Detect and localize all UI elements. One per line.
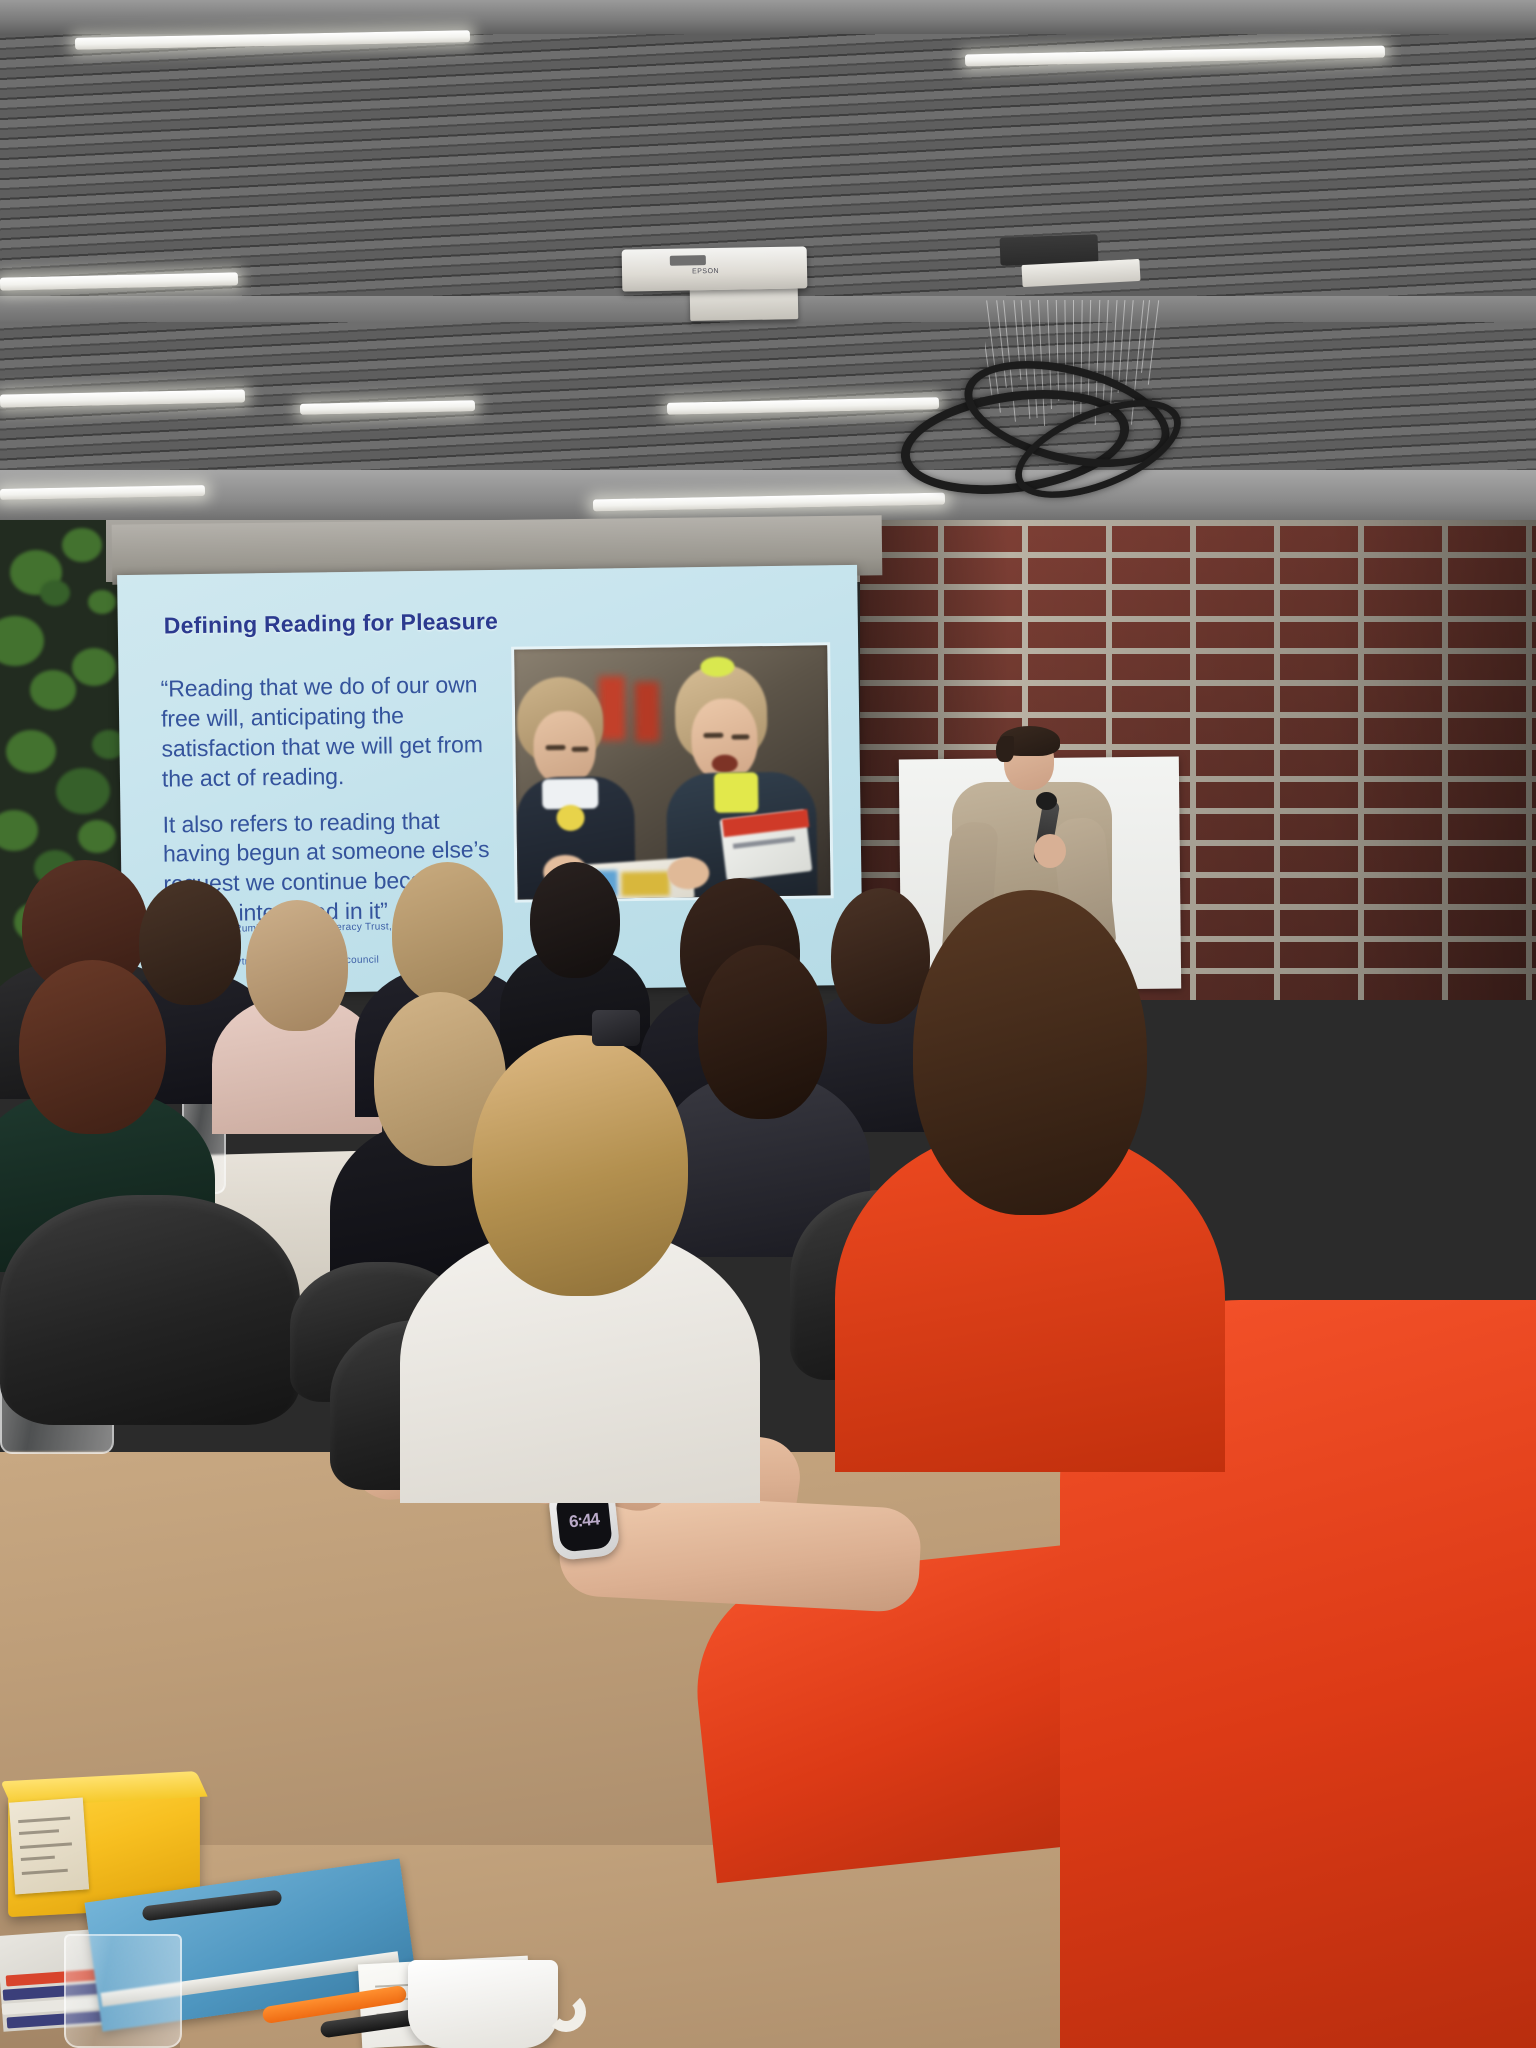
smartwatch-time: 6:44 <box>568 1509 600 1532</box>
slide-quote-paragraph-1: “Reading that we do of our own free will… <box>160 670 492 794</box>
slide-title: Defining Reading for Pleasure <box>164 608 499 640</box>
coffee-mug <box>408 1960 558 2048</box>
paper-sachet <box>9 1798 89 1895</box>
foreground-glass-bottom <box>64 1934 182 2048</box>
projector-lens-icon <box>670 255 706 266</box>
attendee-orange-blazer <box>835 890 1225 1450</box>
chair-1 <box>0 1195 300 1425</box>
presenter-hair-side <box>996 736 1014 762</box>
attendee-head <box>913 890 1147 1215</box>
attendee-head <box>19 960 166 1134</box>
ceiling-band-top <box>0 0 1536 34</box>
coffee-mug-handle <box>546 1992 586 2032</box>
attendee-head <box>530 862 620 978</box>
projector-device: EPSON <box>622 246 808 291</box>
attendee-head <box>472 1035 688 1296</box>
attendee-white-tshirt-curly <box>400 1035 760 1485</box>
presenter-hand <box>1034 834 1066 868</box>
projector-brand-label: EPSON <box>692 268 719 275</box>
microphone-head-icon <box>1036 792 1057 810</box>
attendee-head <box>392 862 503 1004</box>
hair-clip <box>592 1010 640 1046</box>
photo-scene: EPSON Defining Reading for Pleasure “Rea… <box>0 0 1536 2048</box>
projector-arm <box>690 287 799 321</box>
